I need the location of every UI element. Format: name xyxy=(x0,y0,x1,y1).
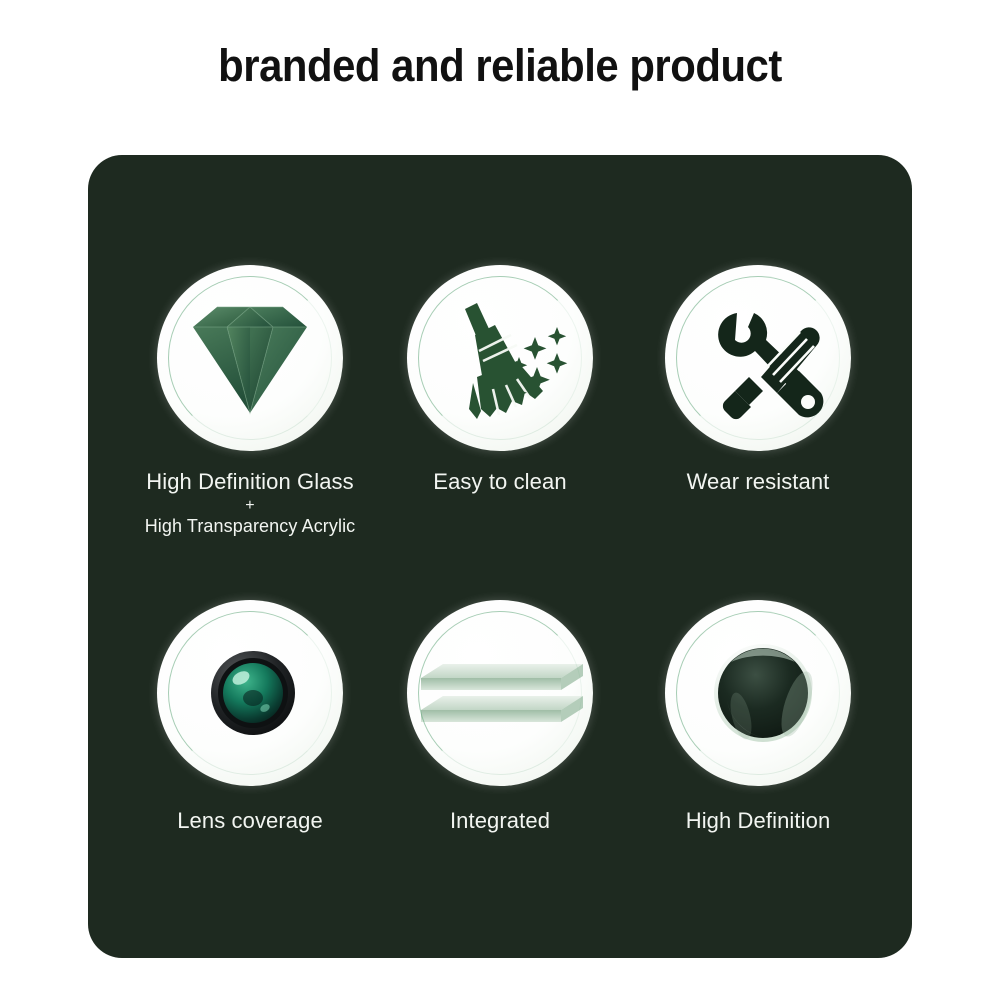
feature-label: High Definition xyxy=(686,808,831,833)
feature-easy-to-clean: Easy to clean xyxy=(375,265,625,497)
feature-caption: Lens coverage xyxy=(125,806,375,836)
feature-caption: High Definition xyxy=(633,806,883,836)
icon-disc xyxy=(665,600,851,786)
feature-label: Wear resistant xyxy=(687,469,830,494)
page-title: branded and reliable product xyxy=(35,38,965,94)
feature-lens-coverage: Lens coverage xyxy=(125,600,375,836)
icon-disc-wrap xyxy=(375,600,625,786)
icon-disc xyxy=(157,265,343,451)
feature-high-definition-glass: High Definition Glass + High Transparenc… xyxy=(125,265,375,538)
icon-disc xyxy=(407,265,593,451)
icon-disc-wrap xyxy=(375,265,625,451)
feature-caption: Easy to clean xyxy=(375,467,625,497)
feature-plus: + xyxy=(125,497,375,514)
feature-wear-resistant: Wear resistant xyxy=(633,265,883,497)
features-panel: High Definition Glass + High Transparenc… xyxy=(88,155,912,958)
icon-disc-wrap xyxy=(633,600,883,786)
feature-integrated: Integrated xyxy=(375,600,625,836)
feature-label: High Definition Glass xyxy=(146,469,354,494)
feature-caption: High Definition Glass + High Transparenc… xyxy=(125,467,375,538)
icon-disc-wrap xyxy=(633,265,883,451)
feature-caption: Wear resistant xyxy=(633,467,883,497)
diamond-icon xyxy=(157,265,343,451)
wrench-screwdriver-icon xyxy=(665,265,851,451)
feature-label: Lens coverage xyxy=(177,808,323,833)
feature-high-definition: High Definition xyxy=(633,600,883,836)
camera-lens-icon xyxy=(157,600,343,786)
feature-sublabel: High Transparency Acrylic xyxy=(125,514,375,538)
broom-sparkle-icon xyxy=(407,265,593,451)
feature-label: Integrated xyxy=(450,808,550,833)
glass-dome-icon xyxy=(665,600,851,786)
icon-disc xyxy=(157,600,343,786)
icon-disc-wrap xyxy=(125,265,375,451)
features-grid: High Definition Glass + High Transparenc… xyxy=(88,155,912,958)
product-feature-page: branded and reliable product xyxy=(0,0,1000,1000)
stacked-glass-sheets-icon xyxy=(407,600,593,786)
feature-caption: Integrated xyxy=(375,806,625,836)
icon-disc-wrap xyxy=(125,600,375,786)
feature-label: Easy to clean xyxy=(433,469,566,494)
icon-disc xyxy=(407,600,593,786)
icon-disc xyxy=(665,265,851,451)
